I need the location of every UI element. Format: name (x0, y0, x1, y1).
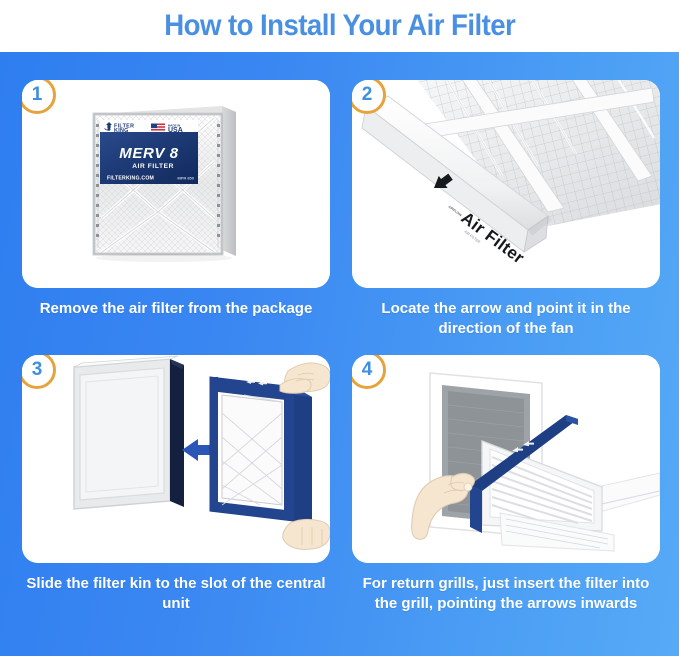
steps-grid: 1 (0, 52, 679, 656)
svg-text:MERV 8: MERV 8 (119, 145, 179, 162)
step-4: 4 (352, 355, 660, 614)
svg-text:KING: KING (114, 128, 129, 134)
hand-bottom (283, 519, 330, 549)
step-2-caption: Locate the arrow and point it in the dir… (352, 299, 660, 339)
usa-flag-icon (151, 124, 165, 132)
step-1-card: 1 (22, 80, 330, 288)
page-title: How to Install Your Air Filter (164, 9, 515, 43)
insert-filter-into-return-grill-illustration (352, 355, 660, 563)
filter-corner-arrow-photo: AIRFLOW Air Filter AIR FILTER (352, 80, 660, 288)
step-4-caption: For return grills, just insert the filte… (352, 574, 660, 614)
step-1-caption: Remove the air filter from the package (22, 299, 330, 319)
header-band: How to Install Your Air Filter (0, 0, 679, 52)
svg-text:AIR FILTER: AIR FILTER (132, 163, 174, 170)
infographic-root: How to Install Your Air Filter 1 (0, 0, 679, 656)
svg-text:USA: USA (168, 127, 183, 134)
step-4-card: 4 (352, 355, 660, 563)
step-2-card: 2 (352, 80, 660, 288)
step-3: 3 (22, 355, 330, 614)
packaged-air-filter-photo: FILTER KING MADE IN USA (22, 80, 330, 288)
step-3-caption: Slide the filter kin to the slot of the … (22, 574, 330, 614)
svg-text:FILTERKING.COM: FILTERKING.COM (107, 176, 154, 182)
step-2: 2 (352, 80, 660, 339)
step-1: 1 (22, 80, 330, 319)
svg-text:MPR 650: MPR 650 (177, 176, 194, 181)
step-3-card: 3 (22, 355, 330, 563)
air-filter-panel (210, 377, 312, 531)
slide-filter-into-unit-illustration (22, 355, 330, 563)
central-unit-slot (74, 356, 184, 509)
